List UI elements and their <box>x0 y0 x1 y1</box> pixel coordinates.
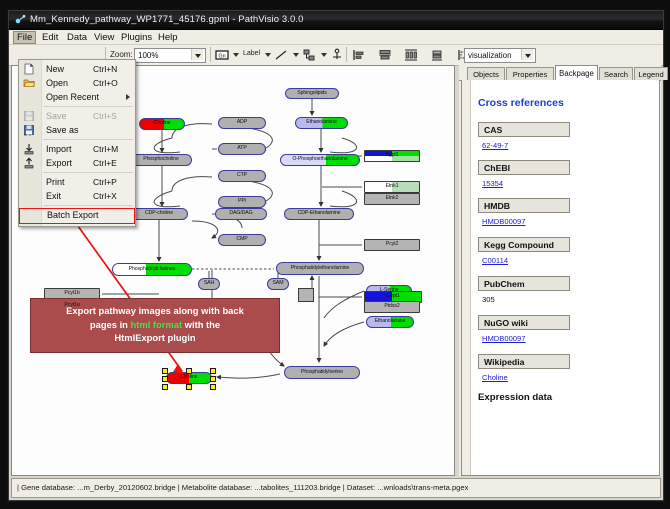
pathway-node-cdp-ethanolamine[interactable]: CDP-Ethanolamine <box>284 208 354 220</box>
menu-item-import[interactable]: Import Ctrl+M <box>19 142 135 156</box>
tab-label: Backpage <box>559 69 594 78</box>
pathway-node-cdp-choline[interactable]: CDP-choline <box>130 208 188 220</box>
node-label: Sphingolipids <box>297 91 327 96</box>
node-label: CTP <box>237 173 247 178</box>
node-label: CDP-choline <box>145 211 173 216</box>
menu-edit[interactable]: Edit <box>38 31 62 44</box>
node-label: Ethanolamine <box>375 319 406 324</box>
new-document-icon <box>23 63 35 75</box>
menu-item-shortcut: Ctrl+N <box>93 64 117 74</box>
tab-legend[interactable]: Legend <box>634 67 668 80</box>
selection-handle[interactable] <box>162 376 168 382</box>
pathway-node-dag[interactable]: DAG/DAG <box>215 208 267 220</box>
menu-help[interactable]: Help <box>154 31 182 44</box>
selection-handle[interactable] <box>210 384 216 390</box>
sidebar-tab-row[interactable]: Objects Properties Backpage Search Legen… <box>459 65 661 81</box>
xref-link-nugo[interactable]: HMDB00097 <box>482 334 525 343</box>
menu-separator <box>43 139 133 140</box>
node-label: Pcyt1a <box>64 303 79 308</box>
tab-search[interactable]: Search <box>599 67 633 80</box>
pathway-node-ppi[interactable]: PPi <box>218 196 266 208</box>
menu-item-label: Open <box>46 78 68 88</box>
import-icon <box>23 143 35 155</box>
align-left-icon[interactable] <box>352 48 366 62</box>
selection-handle[interactable] <box>210 376 216 382</box>
menu-item-label: Batch Export <box>47 210 99 220</box>
visualization-value: visualization <box>468 51 512 60</box>
pathway-node-ethanolamine-top[interactable]: Ethanolamine <box>295 117 348 129</box>
submenu-arrow-icon <box>126 94 130 100</box>
callout-line2: pages in html format with the <box>37 318 273 332</box>
toolbar-separator <box>210 47 211 62</box>
datanode-icon[interactable]: Gn <box>215 48 229 62</box>
menu-item-save: Save Ctrl+S <box>19 109 135 123</box>
pathvisio-app-icon <box>14 14 26 26</box>
node-label: O-Phosphoethanolamine <box>292 157 347 162</box>
pathway-node-ethanolamine-bottom[interactable]: Ethanolamine <box>366 316 414 328</box>
expression-data-heading: Expression data <box>478 392 552 403</box>
node-label: Phosphatidylserine <box>301 370 343 375</box>
node-label: Phosphatidylethanolamine <box>291 266 349 271</box>
menu-item-label: Open Recent <box>46 92 99 102</box>
node-label: DAG/DAG <box>229 211 252 216</box>
node-label: Pcyt1b <box>64 291 79 296</box>
node-label: Choline <box>181 375 198 380</box>
save-icon <box>23 110 35 122</box>
datanode-dropdown-icon[interactable] <box>233 53 239 57</box>
pathway-gene-pcyt2[interactable]: Pcyt2 <box>364 239 420 251</box>
menu-view[interactable]: View <box>90 31 118 44</box>
pathway-node-sam[interactable]: SAM <box>267 278 289 290</box>
toolbar-separator <box>346 47 347 62</box>
file-menu-dropdown[interactable]: New Ctrl+N Open Ctrl+O Open Recent <box>18 59 136 227</box>
visualization-combobox[interactable]: visualization <box>464 48 536 63</box>
interaction-dropdown-icon[interactable] <box>321 53 327 57</box>
xref-label: CAS <box>484 125 502 135</box>
title-bar: Mm_Kennedy_pathway_WP1771_45176.gpml - P… <box>9 11 663 30</box>
chevron-down-icon[interactable] <box>191 49 203 60</box>
callout-line2-b: with the <box>182 319 220 330</box>
xref-value-pubchem: 305 <box>482 295 495 304</box>
node-label: SAH <box>204 281 214 286</box>
node-label: Etnk2 <box>386 196 399 201</box>
tab-properties[interactable]: Properties <box>506 67 554 80</box>
xref-link-hmdb[interactable]: HMDB00097 <box>482 217 525 226</box>
menu-item-label: Print <box>46 177 65 187</box>
menu-separator <box>43 205 133 206</box>
node-label: Choline <box>154 121 171 126</box>
interaction-icon[interactable] <box>302 48 316 62</box>
pathway-node-sah[interactable]: SAH <box>198 278 220 290</box>
menu-file[interactable]: File <box>13 31 36 44</box>
xref-label: Kegg Compound <box>484 240 554 250</box>
sidebar[interactable]: Objects Properties Backpage Search Legen… <box>459 65 661 476</box>
pathway-node-choline-selected[interactable]: Choline <box>166 372 212 384</box>
menu-item-label: New <box>46 64 64 74</box>
xref-label: Wikipedia <box>484 357 524 367</box>
pathway-node-phosphatidylserine[interactable]: Phosphatidylserine <box>284 366 360 379</box>
pathway-node-ctp[interactable]: CTP <box>218 170 266 182</box>
pathway-node-phosphatidylcholines[interactable]: Phosphatidylcholines <box>112 263 192 276</box>
menu-bar[interactable]: File Edit Data View Plugins Help <box>9 30 663 45</box>
menu-item-label: Export <box>46 158 72 168</box>
status-text: | Gene database: ...m_Derby_20120602.bri… <box>17 483 468 492</box>
tab-label: Properties <box>513 70 548 79</box>
callout-line2-highlight: html format <box>131 319 183 330</box>
xref-link-kegg[interactable]: C00114 <box>482 256 508 265</box>
xref-label: ChEBI <box>484 163 510 173</box>
xref-header-hmdb: HMDB <box>478 198 570 213</box>
node-label: CMP <box>236 237 247 242</box>
menu-item-shortcut: Ctrl+O <box>93 78 118 88</box>
pathway-node-sphingolipids[interactable]: Sphingolipids <box>285 88 339 99</box>
tab-label: Search <box>604 70 628 79</box>
node-label: PPi <box>238 199 246 204</box>
menu-item-open[interactable]: Open Ctrl+O <box>19 76 135 90</box>
pathway-gene-etnk1[interactable]: Etnk1 <box>364 181 420 193</box>
menu-separator <box>43 172 133 173</box>
node-label: CDP-Ethanolamine <box>298 211 341 216</box>
menu-item-print[interactable]: Print Ctrl+P <box>19 175 135 189</box>
save-as-icon <box>23 124 35 136</box>
node-label: Sgpl1 <box>386 153 399 158</box>
application-window: Mm_Kennedy_pathway_WP1771_45176.gpml - P… <box>8 10 664 501</box>
selection-handle[interactable] <box>186 368 192 374</box>
pathway-anchor-box[interactable] <box>298 288 314 302</box>
menu-data[interactable]: Data <box>63 31 91 44</box>
xref-label: PubChem <box>484 279 525 289</box>
menu-item-label: Save <box>46 111 67 121</box>
menu-item-shortcut: Ctrl+X <box>93 191 117 201</box>
backpage-content: Cross references CAS 62-49-7 ChEBI 15354… <box>472 80 657 475</box>
xref-header-cas: CAS <box>478 122 570 137</box>
xref-header-pubchem: PubChem <box>478 276 570 291</box>
menu-item-shortcut: Ctrl+S <box>93 111 117 121</box>
xref-label: NuGO wiki <box>484 318 528 328</box>
window-title: Mm_Kennedy_pathway_WP1771_45176.gpml - P… <box>30 14 304 25</box>
node-label: Ptdss2 <box>384 304 399 309</box>
line-dropdown-icon[interactable] <box>293 53 299 57</box>
zoom-value: 100% <box>138 51 158 60</box>
work-area: Choline Sphingolipids ADP ATP Ethanolami… <box>9 63 663 500</box>
chevron-down-icon[interactable] <box>521 49 533 60</box>
menu-item-export[interactable]: Export Ctrl+E <box>19 156 135 170</box>
pathway-node-phosphatidylethanolamine[interactable]: Phosphatidylethanolamine <box>276 262 364 275</box>
menu-item-batch-export[interactable]: Batch Export <box>19 208 135 224</box>
backpage-panel[interactable]: Cross references CAS 62-49-7 ChEBI 15354… <box>461 80 660 476</box>
pathway-gene-etnk2[interactable]: Etnk2 <box>364 193 420 205</box>
node-label: ADP <box>237 120 247 125</box>
status-bar: | Gene database: ...m_Derby_20120602.bri… <box>11 478 661 498</box>
xref-link-chebi[interactable]: 15354 <box>482 179 503 188</box>
anchor-icon[interactable] <box>330 48 344 62</box>
xref-header-chebi: ChEBI <box>478 160 570 175</box>
node-label: Ethanolamine <box>306 120 337 125</box>
pathway-node-choline-top[interactable]: Choline <box>139 118 185 130</box>
label-tool-label[interactable]: Label <box>243 50 260 57</box>
pathway-node-cmp[interactable]: CMP <box>218 234 266 246</box>
xref-link-wikipedia[interactable]: Choline <box>482 373 508 382</box>
open-folder-icon <box>23 77 35 89</box>
node-label: ATP <box>237 146 246 151</box>
callout-line3: HtmlExport plugin <box>37 331 273 345</box>
export-icon <box>23 157 35 169</box>
node-label: SAM <box>273 281 284 286</box>
zoom-label: Zoom: <box>110 50 133 59</box>
menu-plugins[interactable]: Plugins <box>117 31 156 44</box>
node-label: Etnk1 <box>386 184 399 189</box>
menu-item-shortcut: Ctrl+P <box>93 177 117 187</box>
menu-item-exit[interactable]: Exit Ctrl+X <box>19 189 135 203</box>
pathway-node-phosphocholine[interactable]: Phosphocholine <box>130 154 192 166</box>
menu-item-label: Import <box>46 144 72 154</box>
selection-handle[interactable] <box>210 368 216 374</box>
screenshot-root: Mm_Kennedy_pathway_WP1771_45176.gpml - P… <box>0 0 670 509</box>
menu-item-label: Exit <box>46 191 61 201</box>
tab-label: Objects <box>473 70 499 79</box>
tab-backpage[interactable]: Backpage <box>555 65 598 80</box>
menu-item-save-as[interactable]: Save as <box>19 123 135 137</box>
node-label: Pcyt2 <box>386 242 398 247</box>
pathway-node-atp[interactable]: ATP <box>218 143 266 155</box>
line-icon[interactable] <box>274 48 288 62</box>
callout-line2-a: pages in <box>90 319 131 330</box>
distribute-icon[interactable] <box>404 48 418 62</box>
menu-item-shortcut: Ctrl+M <box>93 144 118 154</box>
tab-objects[interactable]: Objects <box>467 67 505 80</box>
align-horizontal-icon[interactable] <box>378 48 392 62</box>
xref-label: HMDB <box>484 201 510 211</box>
menu-item-open-recent[interactable]: Open Recent <box>19 90 135 104</box>
selection-handle[interactable] <box>186 384 192 390</box>
svg-text:Gn: Gn <box>218 54 225 60</box>
xref-header-nugo: NuGO wiki <box>478 315 570 330</box>
node-label: Phosphocholine <box>143 157 179 162</box>
selection-handle[interactable] <box>162 368 168 374</box>
node-label: Cept1 <box>386 294 399 299</box>
cross-references-heading: Cross references <box>478 97 564 109</box>
label-dropdown-icon[interactable] <box>265 53 271 57</box>
menu-item-shortcut: Ctrl+E <box>93 158 117 168</box>
xref-header-wikipedia: Wikipedia <box>478 354 570 369</box>
sidebar-scrollbar[interactable] <box>462 80 471 475</box>
zoom-combobox[interactable]: 100% <box>134 48 206 63</box>
pathway-node-o-phosphoethanolamine[interactable]: O-Phosphoethanolamine <box>280 154 360 166</box>
menu-item-label: Save as <box>46 125 79 135</box>
menu-item-new[interactable]: New Ctrl+N <box>19 62 135 76</box>
pathway-node-adp[interactable]: ADP <box>218 117 266 129</box>
pathway-gene-ptdss2[interactable]: Ptdss2 <box>364 301 420 313</box>
stack-icon[interactable] <box>430 48 444 62</box>
xref-link-cas[interactable]: 62-49-7 <box>482 141 508 150</box>
xref-header-kegg: Kegg Compound <box>478 237 570 252</box>
menu-separator <box>43 106 133 107</box>
tab-label: Legend <box>638 70 663 79</box>
node-label: Phosphatidylcholines <box>129 267 176 272</box>
selection-handle[interactable] <box>162 384 168 390</box>
